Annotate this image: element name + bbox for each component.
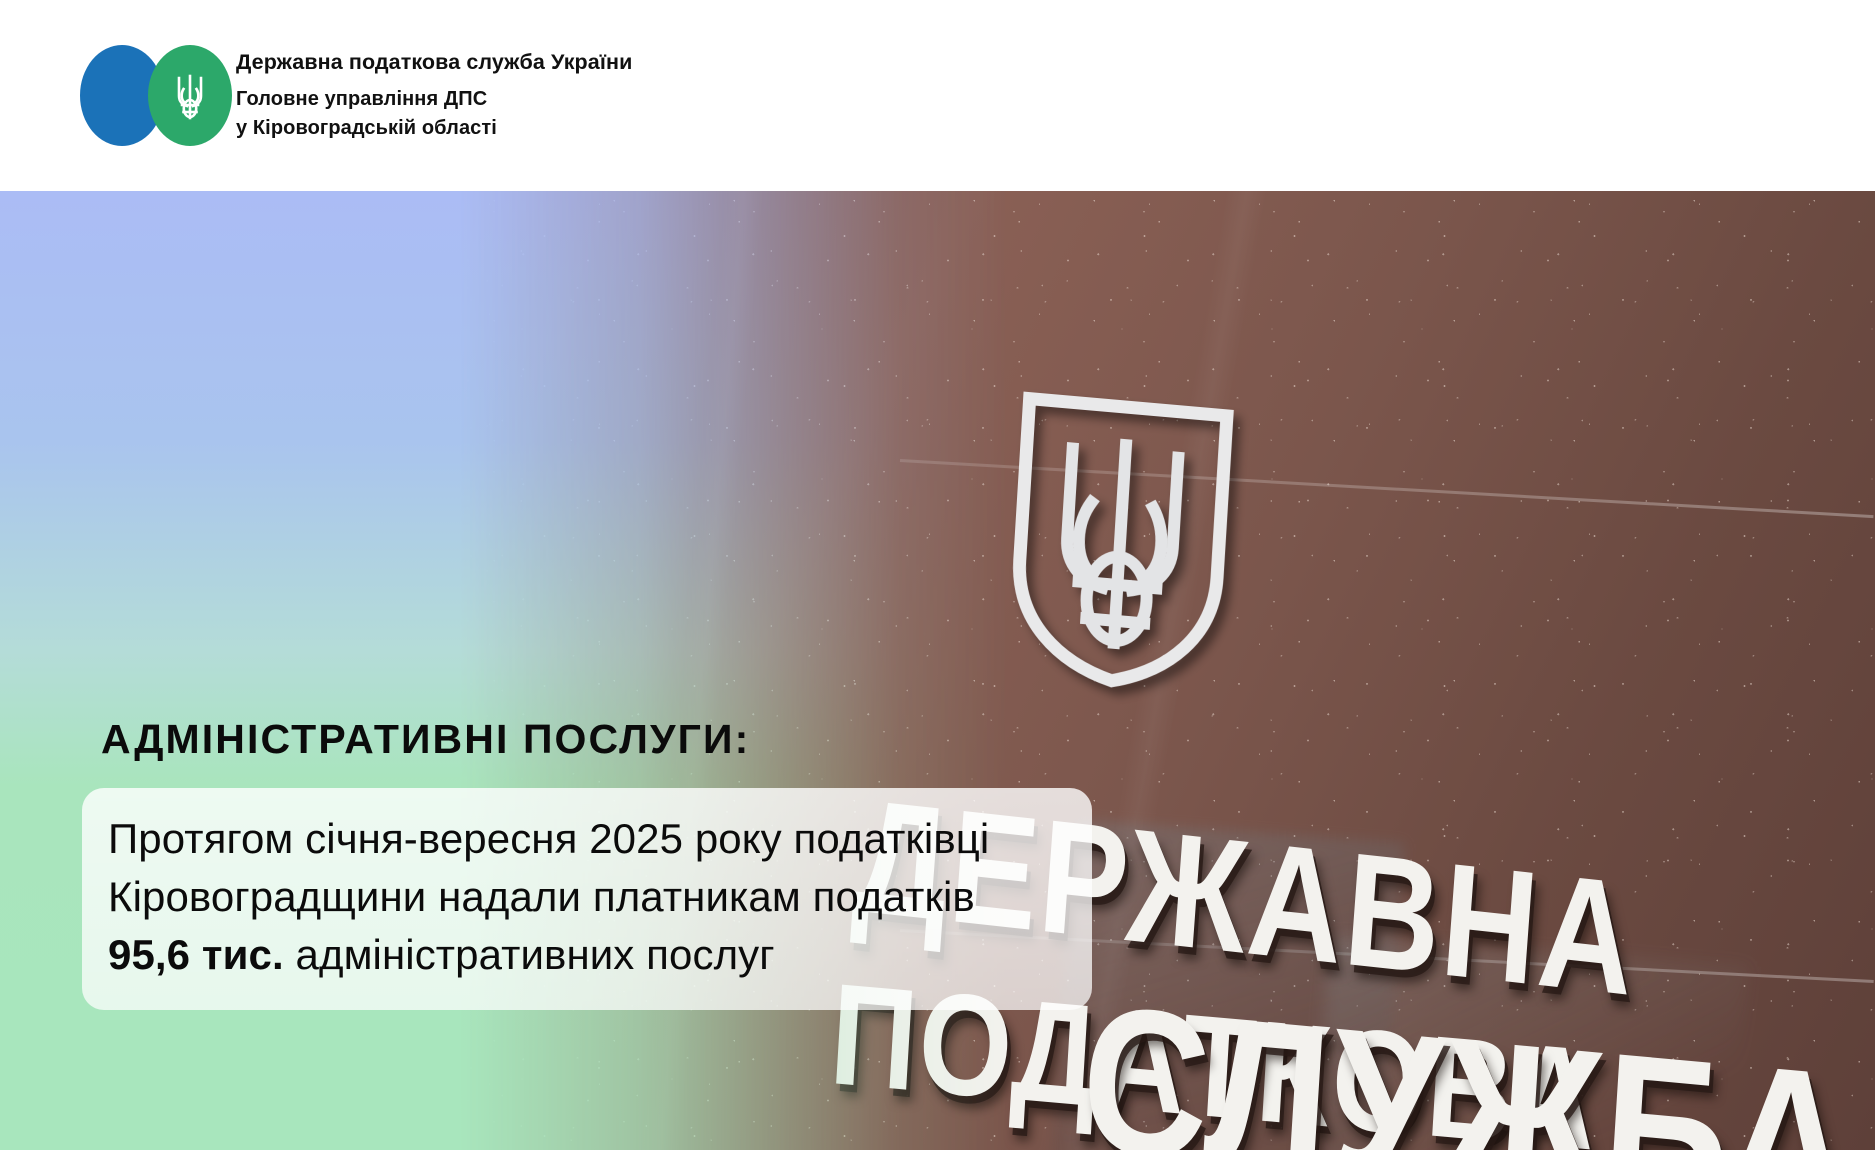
body-text-part-1: Протягом січня-вересня 2025 року податкі… <box>108 815 989 920</box>
poster-page: Державна податкова служба України Головн… <box>0 0 1875 1150</box>
organization-name-block: Державна податкова служба України Головн… <box>236 48 632 143</box>
organization-logo: Державна податкова служба України Головн… <box>80 43 632 148</box>
green-circle-trident-icon <box>148 45 232 146</box>
hero-section: ДЕРЖАВНА ПОДАТКОВА СЛУЖБА УКРАЇНИ АДМІНІ… <box>0 191 1875 1150</box>
org-title-line-3: у Кіровоградській області <box>236 114 632 143</box>
body-text-card: Протягом січня-вересня 2025 року податкі… <box>82 788 1092 1010</box>
page-header: Державна податкова служба України Головн… <box>0 0 1875 191</box>
trident-icon <box>169 69 211 123</box>
logo-marks <box>80 43 220 148</box>
org-title-line-2: Головне управління ДПС <box>236 85 632 114</box>
body-text-highlight: 95,6 тис. <box>108 931 284 978</box>
org-title-line-1: Державна податкова служба України <box>236 48 632 77</box>
body-text: Протягом січня-вересня 2025 року податкі… <box>108 810 1062 984</box>
body-text-part-2: адміністративних послуг <box>284 931 775 978</box>
headline: АДМІНІСТРАТИВНІ ПОСЛУГИ: <box>101 716 750 763</box>
